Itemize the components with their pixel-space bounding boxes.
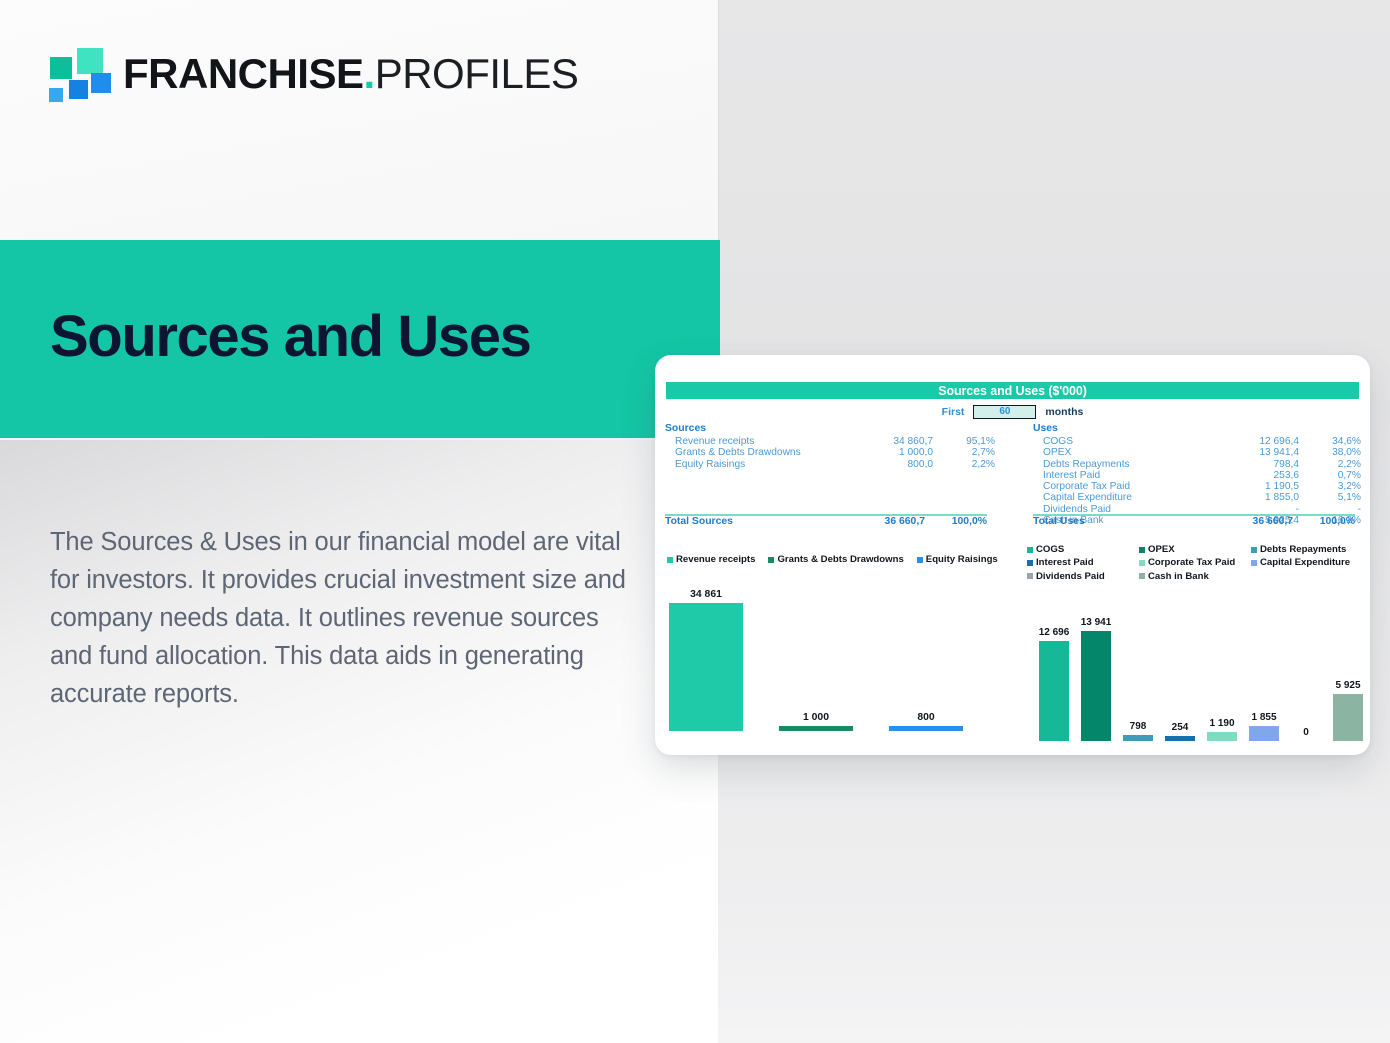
legend-label: Corporate Tax Paid [1148,557,1235,568]
row-label: Grants & Debts Drawdowns [675,447,849,458]
row-label: Equity Raisings [675,459,849,470]
card-title-bar: Sources and Uses ($'000) [666,382,1359,399]
row-percent: 95,1% [933,436,995,447]
page-title: Sources and Uses [50,305,530,369]
row-percent: 38,0% [1299,447,1361,458]
row-value: 13 941,4 [1215,447,1299,458]
months-input[interactable]: 60 [973,405,1036,419]
bar-value-label: 1 190 [1209,718,1234,729]
legend-item: Equity Raisings [917,554,998,565]
uses-total-row: Total Uses 36 660,7 100,0% [1033,516,1355,527]
bar [1207,732,1237,741]
bar [1165,736,1195,741]
bar [1333,694,1363,741]
table-row: Grants & Debts Drawdowns 1 000,0 2,7% [665,447,995,458]
uses-bar-chart: 12 69613 9417982541 1901 85505 925 [1029,581,1361,741]
row-percent: 5,1% [1299,492,1361,503]
legend-swatch-icon [1027,547,1033,553]
legend-label: Capital Expenditure [1260,557,1350,568]
bar-value-label: 0 [1303,727,1309,738]
bar-value-label: 12 696 [1039,627,1070,638]
bar [1039,641,1069,741]
background-vertical-seam [718,0,719,240]
sources-total-row: Total Sources 36 660,7 100,0% [665,516,987,527]
brand-name-thin: PROFILES [375,50,579,97]
period-suffix-label: months [1045,406,1083,418]
bar-slot: 13 941 [1081,631,1111,741]
bar-value-label: 800 [917,712,934,723]
legend-item: Capital Expenditure [1251,557,1363,568]
legend-row: COGS OPEX Debts Repayments [1027,544,1363,555]
legend-label: Equity Raisings [926,554,998,565]
bar-slot: 798 [1123,735,1153,741]
logo-square-mint [77,48,103,74]
card-title: Sources and Uses ($'000) [938,384,1087,398]
legend-swatch-icon [917,557,923,563]
bar-value-label: 254 [1172,722,1189,733]
bar-slot: 5 925 [1333,694,1363,741]
uses-table-header: Uses [1033,423,1361,434]
legend-row: Interest Paid Corporate Tax Paid Capital… [1027,557,1363,568]
row-value: 800,0 [849,459,933,470]
total-percent: 100,0% [1293,516,1355,527]
row-value: 34 860,7 [849,436,933,447]
legend-item: Interest Paid [1027,557,1139,568]
table-row: Corporate Tax Paid 1 190,5 3,2% [1033,481,1361,492]
logo-square-blue-mid [69,80,88,99]
legend-swatch-icon [1251,560,1257,566]
logo-square-blue-light [49,88,63,102]
row-label: Capital Expenditure [1043,492,1215,503]
sources-table-header: Sources [665,423,995,434]
slide-canvas: FRANCHISE.PROFILES Sources and Uses The … [0,0,1390,1043]
legend-swatch-icon [1139,547,1145,553]
brand-name-dot: . [364,50,375,97]
brand-name-bold: FRANCHISE [123,50,364,97]
bar [1249,726,1279,741]
bar-value-label: 798 [1130,721,1147,732]
row-percent: 34,6% [1299,436,1361,447]
legend-item: Corporate Tax Paid [1139,557,1251,568]
table-row: OPEX 13 941,4 38,0% [1033,447,1361,458]
bar-slot: 12 696 [1039,641,1069,741]
bar [889,726,963,731]
table-row: Capital Expenditure 1 855,0 5,1% [1033,492,1361,503]
period-prefix-label: First [942,406,965,418]
row-percent: 3,2% [1299,481,1361,492]
row-label: Debts Repayments [1043,459,1215,470]
row-percent: 2,2% [933,459,995,470]
bar [669,603,743,731]
squares-logo-icon [47,47,107,101]
row-label: Revenue receipts [675,436,849,447]
table-row: COGS 12 696,4 34,6% [1033,436,1361,447]
body-paragraph: The Sources & Uses in our financial mode… [50,523,630,713]
legend-swatch-icon [667,557,673,563]
row-percent: 2,2% [1299,459,1361,470]
legend-item: Grants & Debts Drawdowns [768,554,903,565]
sources-and-uses-card: Sources and Uses ($'000) First 60 months… [655,355,1370,755]
legend-label: OPEX [1148,544,1175,555]
brand-logo: FRANCHISE.PROFILES [47,43,547,105]
total-value: 36 660,7 [1209,516,1293,527]
bar-slot: 800 [889,726,963,731]
row-label: Corporate Tax Paid [1043,481,1215,492]
row-value: 253,6 [1215,470,1299,481]
legend-swatch-icon [768,557,774,563]
legend-item: Debts Repayments [1251,544,1363,555]
bar-slot: 1 855 [1249,726,1279,741]
total-label: Total Sources [665,516,841,527]
bar-value-label: 1 000 [803,712,829,723]
period-selector-row: First 60 months [655,404,1370,420]
total-label: Total Uses [1033,516,1209,527]
row-label: OPEX [1043,447,1215,458]
bar-value-label: 13 941 [1081,617,1112,628]
row-value: 1 190,5 [1215,481,1299,492]
bar [1081,631,1111,741]
legend-swatch-icon [1139,573,1145,579]
legend-item: COGS [1027,544,1139,555]
legend-label: Grants & Debts Drawdowns [777,554,903,565]
table-row: Equity Raisings 800,0 2,2% [665,459,995,470]
legend-swatch-icon [1251,547,1257,553]
bar-value-label: 34 861 [690,589,722,600]
logo-square-blue [91,73,111,93]
row-label: COGS [1043,436,1215,447]
legend-label: Interest Paid [1036,557,1094,568]
row-label: Interest Paid [1043,470,1215,481]
legend-row: Revenue receipts Grants & Debts Drawdown… [667,554,1007,565]
brand-wordmark: FRANCHISE.PROFILES [123,53,578,95]
legend-item: OPEX [1139,544,1251,555]
row-value: 12 696,4 [1215,436,1299,447]
row-percent: 2,7% [933,447,995,458]
bar-slot: 1 000 [779,726,853,731]
legend-label: COGS [1036,544,1064,555]
legend-item: Revenue receipts [667,554,755,565]
sources-bar-chart: 34 8611 000800 [669,571,999,731]
row-value: 798,4 [1215,459,1299,470]
uses-chart-legend: COGS OPEX Debts Repayments Interest Paid [1027,544,1363,584]
table-row: Debts Repayments 798,4 2,2% [1033,459,1361,470]
bar-slot: 34 861 [669,603,743,731]
row-value: 1 855,0 [1215,492,1299,503]
legend-swatch-icon [1027,573,1033,579]
total-value: 36 660,7 [841,516,925,527]
bar [779,726,853,731]
legend-swatch-icon [1027,560,1033,566]
row-value: 1 000,0 [849,447,933,458]
table-row: Interest Paid 253,6 0,7% [1033,470,1361,481]
legend-label: Revenue receipts [676,554,755,565]
bar-slot: 254 [1165,736,1195,741]
legend-swatch-icon [1139,560,1145,566]
row-percent: 0,7% [1299,470,1361,481]
total-percent: 100,0% [925,516,987,527]
bar [1123,735,1153,741]
bar-slot: 1 190 [1207,732,1237,741]
legend-label: Debts Repayments [1260,544,1346,555]
table-row: Revenue receipts 34 860,7 95,1% [665,436,995,447]
logo-square-teal-dark [50,57,72,79]
bar-value-label: 1 855 [1251,712,1276,723]
sources-table: Sources Revenue receipts 34 860,7 95,1% … [665,423,995,470]
uses-table: Uses COGS 12 696,4 34,6% OPEX 13 941,4 3… [1033,423,1361,526]
bar-value-label: 5 925 [1335,680,1360,691]
sources-chart-legend: Revenue receipts Grants & Debts Drawdown… [667,554,1007,565]
